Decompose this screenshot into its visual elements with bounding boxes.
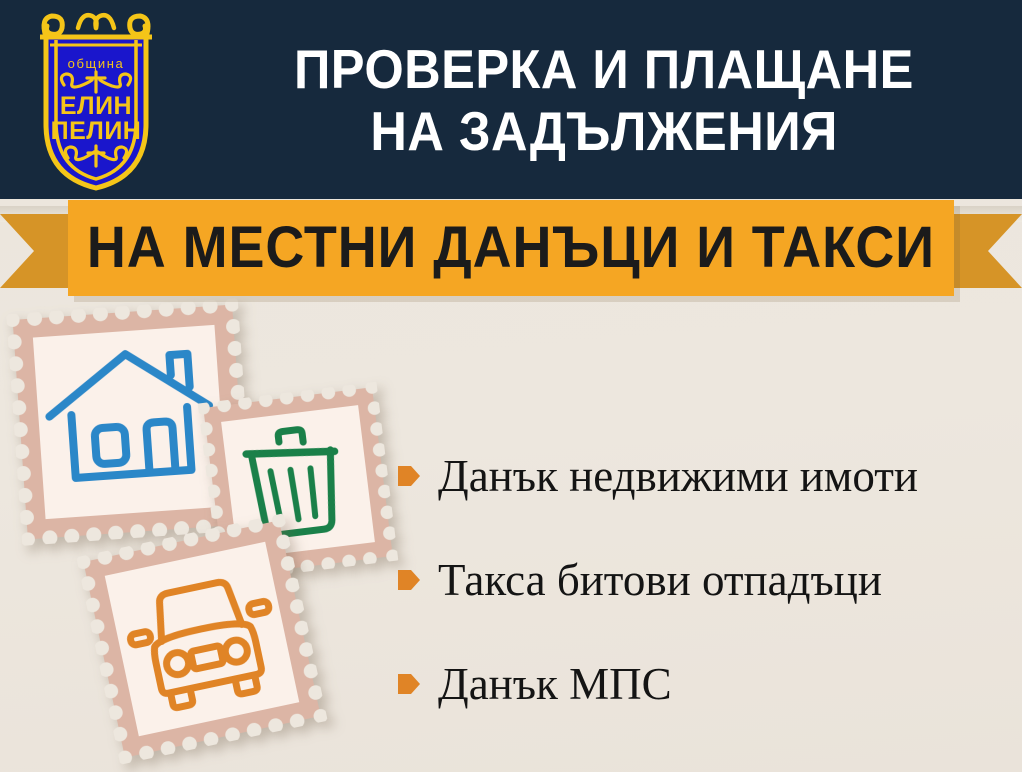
svg-text:община: община bbox=[68, 56, 125, 71]
tax-types-list: Данък недвижими имоти Такса битови отпад… bbox=[398, 424, 1018, 736]
poster-root: община ЕЛИН ПЕЛИН bbox=[0, 0, 1022, 772]
subtitle-ribbon: НА МЕСТНИ ДАНЪЦИ И ТАКСИ bbox=[0, 196, 1022, 308]
svg-text:ЕЛИН: ЕЛИН bbox=[60, 92, 132, 120]
ribbon-label: НА МЕСТНИ ДАНЪЦИ И ТАКСИ bbox=[87, 219, 935, 277]
arrow-bullet-icon bbox=[398, 672, 420, 696]
list-item[interactable]: Данък недвижими имоти bbox=[398, 424, 1018, 528]
page-title: ПРОВЕРКА И ПЛАЩАНЕ НА ЗАДЪЛЖЕНИЯ bbox=[186, 0, 1022, 199]
arrow-bullet-icon bbox=[398, 568, 420, 592]
ribbon-main-panel: НА МЕСТНИ ДАНЪЦИ И ТАКСИ bbox=[68, 200, 954, 296]
list-item-label: Такса битови отпадъци bbox=[438, 555, 882, 605]
crest-icon: община ЕЛИН ПЕЛИН bbox=[20, 6, 172, 192]
title-line-1: ПРОВЕРКА И ПЛАЩАНЕ bbox=[294, 38, 914, 100]
list-item-label: Данък недвижими имоти bbox=[438, 451, 918, 501]
header-band: община ЕЛИН ПЕЛИН bbox=[0, 0, 1022, 199]
stamp-card-vehicle bbox=[76, 513, 327, 764]
list-item[interactable]: Такса битови отпадъци bbox=[398, 528, 1018, 632]
svg-text:ПЕЛИН: ПЕЛИН bbox=[51, 117, 142, 145]
municipality-crest-logo: община ЕЛИН ПЕЛИН bbox=[20, 6, 172, 192]
list-item[interactable]: Данък МПС bbox=[398, 632, 1018, 736]
list-item-label: Данък МПС bbox=[438, 659, 672, 709]
arrow-bullet-icon bbox=[398, 464, 420, 488]
car-stamp-svg bbox=[76, 513, 327, 764]
title-line-2: НА ЗАДЪЛЖЕНИЯ bbox=[370, 100, 838, 162]
